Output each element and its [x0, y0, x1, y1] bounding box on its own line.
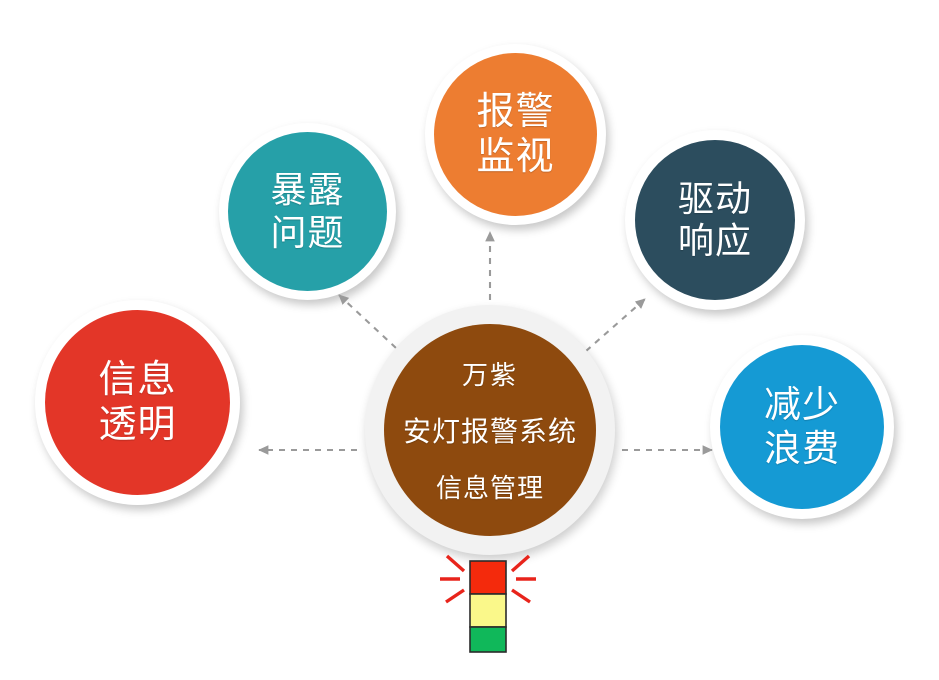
node-info-transparent-label: 信息 透明: [98, 358, 176, 448]
andon-segment-red: [470, 561, 506, 594]
node-info-transparent[interactable]: 信息 透明: [35, 300, 240, 505]
center-line-bottom: 信息管理: [436, 468, 544, 505]
andon-segment-green: [470, 627, 506, 652]
andon-stack-light-icon: [432, 545, 544, 655]
node-center-fill: 万紫 安灯报警系统 信息管理: [384, 324, 596, 536]
node-drive-response-fill: 驱动 响应: [635, 140, 795, 300]
diagram-canvas: 报警 监视 暴露 问题 驱动 响应 信息 透明 减少 浪费 万紫 安灯报警系统 …: [0, 0, 939, 680]
node-reduce-waste[interactable]: 减少 浪费: [710, 335, 894, 519]
node-center-hub[interactable]: 万紫 安灯报警系统 信息管理: [365, 305, 615, 555]
node-alarm-monitor-fill: 报警 监视: [434, 53, 597, 216]
center-line-top: 万紫: [462, 355, 518, 392]
connector-to-drive-response: [586, 299, 645, 351]
andon-tower: [470, 561, 506, 652]
node-reduce-waste-fill: 减少 浪费: [720, 345, 884, 509]
center-line-main: 安灯报警系统: [403, 410, 577, 450]
node-expose-problem[interactable]: 暴露 问题: [219, 123, 396, 300]
node-alarm-monitor[interactable]: 报警 监视: [425, 44, 606, 225]
andon-segment-yellow: [470, 594, 506, 627]
node-expose-problem-label: 暴露 问题: [270, 169, 344, 254]
node-reduce-waste-label: 减少 浪费: [764, 383, 840, 470]
node-expose-problem-fill: 暴露 问题: [228, 132, 387, 291]
node-drive-response[interactable]: 驱动 响应: [625, 130, 805, 310]
node-drive-response-label: 驱动 响应: [678, 178, 752, 263]
node-info-transparent-fill: 信息 透明: [45, 310, 230, 495]
node-alarm-monitor-label: 报警 监视: [476, 90, 554, 180]
connector-to-expose-problem: [339, 295, 396, 348]
